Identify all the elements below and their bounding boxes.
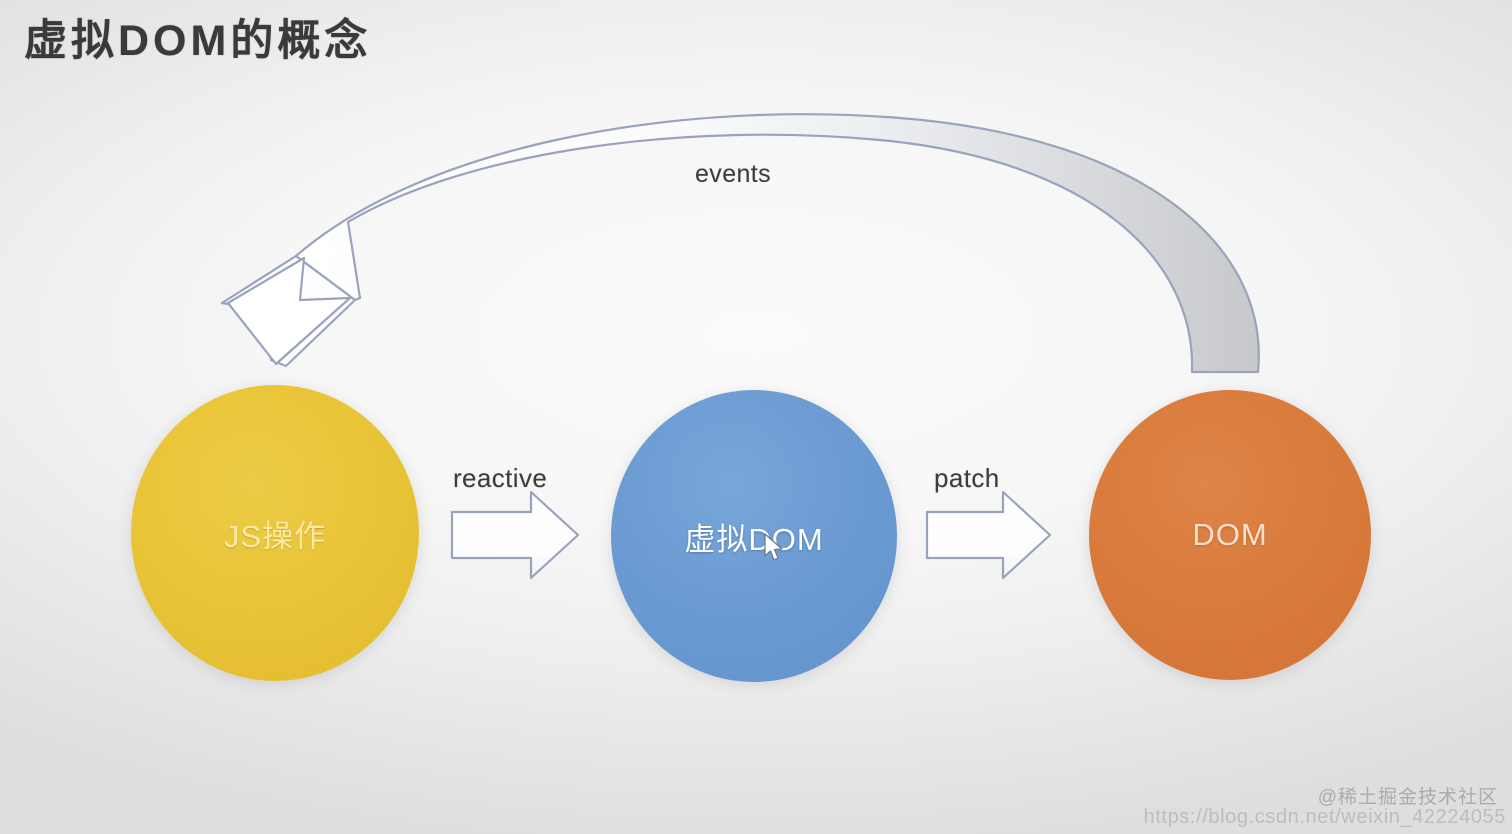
patch-block-arrow <box>927 492 1050 578</box>
node-virtual-dom-label: 虚拟DOM <box>684 514 823 559</box>
edge-label-reactive: reactive <box>453 463 547 494</box>
node-js-operation[interactable]: JS操作 <box>131 385 419 681</box>
edge-label-patch: patch <box>934 463 1000 494</box>
watermark-url: https://blog.csdn.net/weixin_42224055 <box>1144 806 1506 829</box>
events-curved-arrow <box>222 114 1259 372</box>
reactive-block-arrow <box>452 492 578 578</box>
node-virtual-dom[interactable]: 虚拟DOM <box>611 390 897 682</box>
node-dom-label: DOM <box>1192 517 1267 553</box>
watermark-community: @稀土掘金技术社区 <box>1318 782 1498 809</box>
edge-label-events: events <box>695 160 771 189</box>
node-dom[interactable]: DOM <box>1089 390 1371 680</box>
node-js-operation-label: JS操作 <box>224 511 326 556</box>
slide-canvas: 虚拟DOM的概念 <box>0 0 1512 834</box>
